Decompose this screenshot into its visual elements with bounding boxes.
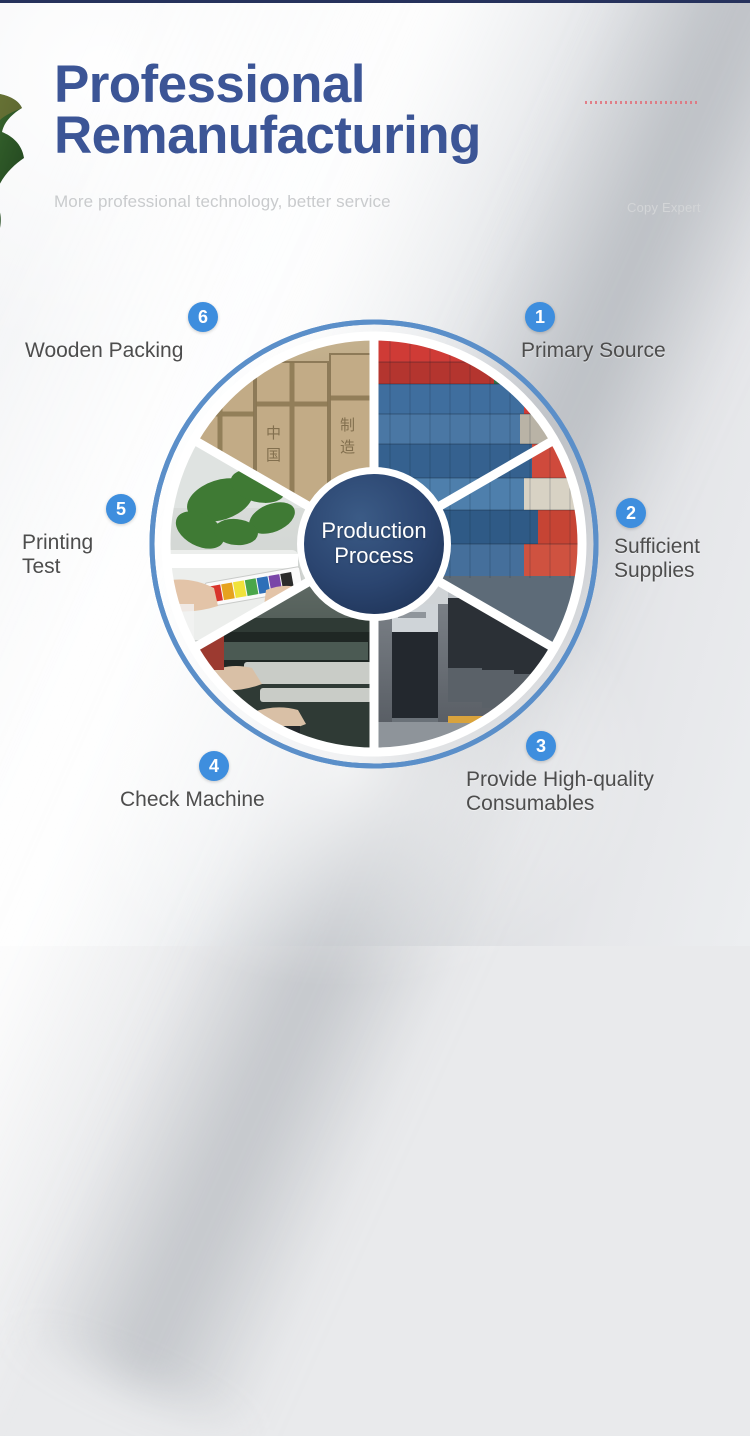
watermark-label: Copy Expert	[627, 200, 701, 215]
step-label-6: Wooden Packing	[25, 339, 225, 363]
step-label-5: Printing Test	[22, 531, 147, 580]
page-subtitle: More professional technology, better ser…	[54, 192, 714, 212]
step-badge-1: 1	[525, 302, 555, 332]
step-label-4: Check Machine	[120, 788, 265, 812]
callout-step-4[interactable]: 4 Check Machine	[120, 751, 265, 812]
production-process-wheel: 中国 制造	[148, 318, 600, 770]
step-badge-4: 4	[199, 751, 229, 781]
svg-text:国: 国	[266, 446, 281, 464]
step-label-2: Sufficient Supplies	[614, 535, 700, 584]
callout-step-6[interactable]: 6 Wooden Packing	[25, 302, 225, 363]
top-accent-strip	[0, 0, 750, 3]
leaf-decoration	[0, 88, 44, 238]
callout-step-3[interactable]: 3 Provide High-quality Consumables	[466, 731, 654, 817]
svg-text:造: 造	[340, 438, 355, 456]
svg-text:中: 中	[266, 424, 281, 442]
callout-step-2[interactable]: 2 Sufficient Supplies	[614, 498, 700, 584]
step-badge-6: 6	[188, 302, 218, 332]
dotted-accent-rule	[585, 101, 697, 104]
page-title-line-2: Remanufacturing	[54, 111, 714, 162]
callout-step-1[interactable]: 1 Primary Source	[521, 302, 666, 363]
step-label-1: Primary Source	[521, 339, 666, 363]
step-badge-3: 3	[526, 731, 556, 761]
svg-text:制: 制	[340, 416, 355, 434]
step-badge-5: 5	[106, 494, 136, 524]
step-badge-2: 2	[616, 498, 646, 528]
wheel-hub[interactable]	[304, 474, 444, 614]
callout-step-5[interactable]: 5 Printing Test	[22, 494, 147, 580]
header-block: Professional Remanufacturing More profes…	[54, 60, 714, 212]
step-label-3: Provide High-quality Consumables	[466, 768, 654, 817]
